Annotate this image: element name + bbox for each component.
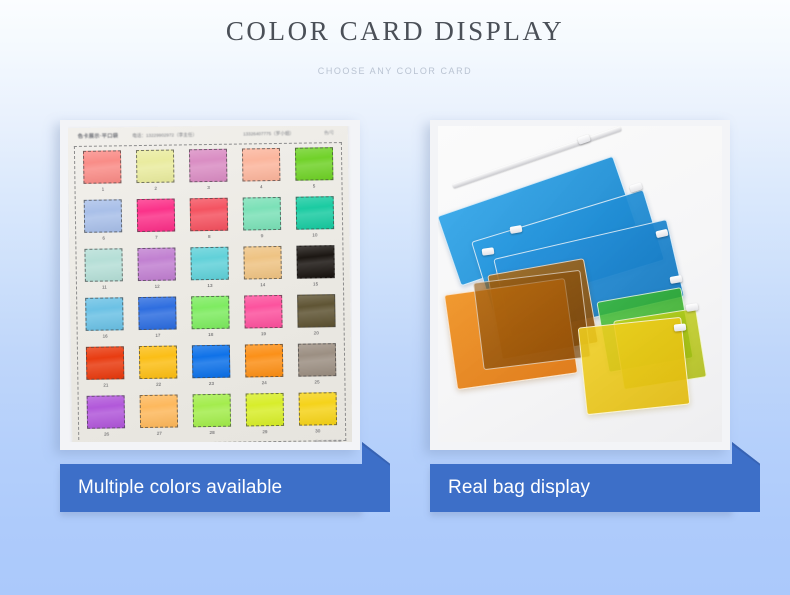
swatch-number-label: 5 bbox=[313, 183, 316, 188]
color-swatch[interactable] bbox=[242, 197, 280, 231]
swatch-cell[interactable]: 20 bbox=[289, 292, 343, 342]
color-swatch[interactable] bbox=[192, 345, 230, 379]
swatch-cell[interactable]: 29 bbox=[238, 391, 292, 441]
swatch-number-label: 17 bbox=[155, 332, 160, 337]
caption-label-right: Real bag display bbox=[448, 477, 590, 499]
zipper-slider-8 bbox=[674, 323, 687, 331]
swatch-number-label: 3 bbox=[207, 184, 210, 189]
swatch-cell[interactable]: 24 bbox=[237, 342, 291, 392]
swatch-number-label: 9 bbox=[261, 233, 264, 238]
swatch-number-label: 23 bbox=[209, 380, 214, 385]
swatch-cell[interactable]: 8 bbox=[182, 196, 236, 246]
color-swatch[interactable] bbox=[86, 297, 124, 331]
swatch-cell[interactable]: 11 bbox=[77, 246, 131, 296]
color-swatch[interactable] bbox=[295, 147, 333, 181]
color-swatch[interactable] bbox=[193, 394, 231, 428]
color-swatch[interactable] bbox=[191, 296, 229, 330]
swatch-number-label: 18 bbox=[208, 331, 213, 336]
swatch-number-label: 29 bbox=[262, 429, 267, 434]
ribbon-fold-icon-right bbox=[732, 442, 760, 512]
color-swatch[interactable] bbox=[83, 150, 121, 184]
color-swatch[interactable] bbox=[138, 297, 176, 331]
color-swatch[interactable] bbox=[245, 393, 283, 427]
swatch-cell[interactable]: 14 bbox=[236, 244, 290, 294]
page-header: COLOR CARD DISPLAY CHOOSE ANY COLOR CARD bbox=[0, 0, 790, 76]
swatch-number-label: 8 bbox=[208, 233, 211, 238]
ribbon-fold-icon-left bbox=[362, 442, 390, 512]
swatch-cell[interactable]: 4 bbox=[234, 146, 288, 196]
swatch-number-label: 11 bbox=[102, 284, 107, 289]
color-swatch[interactable] bbox=[138, 248, 176, 282]
swatch-cell[interactable]: 1 bbox=[76, 148, 130, 198]
color-swatch[interactable] bbox=[140, 394, 178, 428]
color-swatch[interactable] bbox=[84, 199, 122, 233]
swatch-cell[interactable]: 27 bbox=[132, 392, 186, 442]
caption-ribbon-left: Multiple colors available bbox=[60, 464, 362, 512]
color-swatch[interactable] bbox=[297, 294, 335, 328]
color-swatch[interactable] bbox=[243, 246, 281, 280]
color-swatch[interactable] bbox=[296, 245, 334, 279]
swatch-cell[interactable]: 17 bbox=[131, 294, 185, 344]
page-subtitle: CHOOSE ANY COLOR CARD bbox=[0, 66, 790, 76]
swatch-cell[interactable]: 12 bbox=[130, 245, 184, 295]
swatch-cell[interactable]: 6 bbox=[77, 197, 131, 247]
swatch-number-label: 30 bbox=[315, 428, 320, 433]
page-title: COLOR CARD DISPLAY bbox=[0, 14, 790, 48]
card-footer-label: 色卡仅供参考 bbox=[315, 439, 343, 442]
bag-photo bbox=[438, 126, 722, 442]
swatch-number-label: 28 bbox=[210, 429, 215, 434]
bag-brown-overlay bbox=[473, 270, 591, 371]
swatch-cell[interactable]: 26 bbox=[80, 393, 134, 442]
swatch-cell[interactable]: 9 bbox=[235, 195, 289, 245]
swatch-number-label: 12 bbox=[155, 283, 160, 288]
swatch-number-label: 15 bbox=[313, 281, 318, 286]
swatch-cell[interactable]: 16 bbox=[78, 295, 132, 345]
color-swatch[interactable] bbox=[136, 150, 174, 184]
swatch-number-label: 27 bbox=[157, 430, 162, 435]
color-swatch[interactable] bbox=[190, 247, 228, 281]
swatch-cell[interactable]: 10 bbox=[288, 194, 342, 244]
swatch-cell[interactable]: 22 bbox=[132, 343, 186, 393]
color-swatch[interactable] bbox=[87, 395, 125, 429]
zipper-slider-1 bbox=[577, 134, 591, 145]
color-swatch[interactable] bbox=[139, 345, 177, 379]
swatch-cell[interactable]: 2 bbox=[129, 147, 183, 197]
swatch-number-label: 1 bbox=[102, 186, 105, 191]
color-card-panel[interactable]: 色卡展示·平口袋 电话：13229902972（李主任） 13326407775… bbox=[60, 120, 360, 450]
color-swatch[interactable] bbox=[245, 344, 283, 378]
swatch-cell[interactable]: 30 bbox=[291, 390, 345, 440]
caption-label-left: Multiple colors available bbox=[78, 477, 282, 499]
swatch-number-label: 21 bbox=[103, 382, 108, 387]
swatch-number-label: 2 bbox=[154, 185, 157, 190]
swatch-number-label: 25 bbox=[314, 379, 319, 384]
swatch-number-label: 14 bbox=[260, 282, 265, 287]
color-swatch[interactable] bbox=[190, 198, 228, 232]
swatch-number-label: 24 bbox=[262, 380, 267, 385]
swatch-cell[interactable]: 7 bbox=[129, 196, 183, 246]
swatch-grid: 1234567891011121314151617181920212223242… bbox=[74, 142, 346, 442]
swatch-number-label: 10 bbox=[312, 232, 317, 237]
swatch-cell[interactable]: 21 bbox=[79, 344, 133, 394]
swatch-number-label: 6 bbox=[102, 235, 105, 240]
color-swatch[interactable] bbox=[85, 248, 123, 282]
swatch-cell[interactable]: 13 bbox=[183, 245, 237, 295]
bag-photo-canvas bbox=[438, 126, 722, 442]
caption-ribbon-right: Real bag display bbox=[430, 464, 732, 512]
swatch-cell[interactable]: 19 bbox=[236, 293, 290, 343]
swatch-number-label: 19 bbox=[261, 331, 266, 336]
swatch-cell[interactable]: 3 bbox=[182, 147, 236, 197]
swatch-number-label: 26 bbox=[104, 431, 109, 436]
swatch-number-label: 4 bbox=[260, 184, 263, 189]
swatch-number-label: 13 bbox=[207, 282, 212, 287]
swatch-number-label: 22 bbox=[156, 381, 161, 386]
swatch-cell[interactable]: 18 bbox=[184, 294, 238, 344]
color-swatch[interactable] bbox=[137, 199, 175, 233]
swatch-number-label: 20 bbox=[314, 330, 319, 335]
bag-yellow bbox=[578, 317, 691, 415]
color-swatch[interactable] bbox=[298, 392, 336, 426]
color-card-photo: 色卡展示·平口袋 电话：13229902972（李主任） 13326407775… bbox=[68, 126, 352, 442]
swatch-cell[interactable]: 15 bbox=[289, 243, 343, 293]
card-phone-label-1: 电话：13229902972（李主任） bbox=[132, 132, 197, 139]
swatch-cell[interactable]: 28 bbox=[185, 392, 239, 442]
swatch-number-label: 7 bbox=[155, 234, 158, 239]
color-card-sheet: 色卡展示·平口袋 电话：13229902972（李主任） 13326407775… bbox=[68, 126, 352, 442]
card-phone-label-2: 13326407775（罗小姐） bbox=[243, 131, 294, 138]
swatch-number-label: 16 bbox=[103, 333, 108, 338]
color-swatch[interactable] bbox=[244, 295, 282, 329]
card-note-label: 色/号 bbox=[324, 130, 334, 136]
color-swatch[interactable] bbox=[189, 149, 227, 183]
swatch-cell[interactable]: 5 bbox=[287, 145, 341, 195]
real-bag-panel[interactable] bbox=[430, 120, 730, 450]
color-swatch[interactable] bbox=[297, 343, 335, 377]
swatch-cell[interactable]: 25 bbox=[290, 341, 344, 391]
color-swatch[interactable] bbox=[242, 148, 280, 182]
color-swatch[interactable] bbox=[295, 196, 333, 230]
card-brand-label: 色卡展示·平口袋 bbox=[78, 132, 119, 140]
swatch-cell[interactable]: 23 bbox=[184, 343, 238, 393]
color-swatch[interactable] bbox=[86, 346, 124, 380]
